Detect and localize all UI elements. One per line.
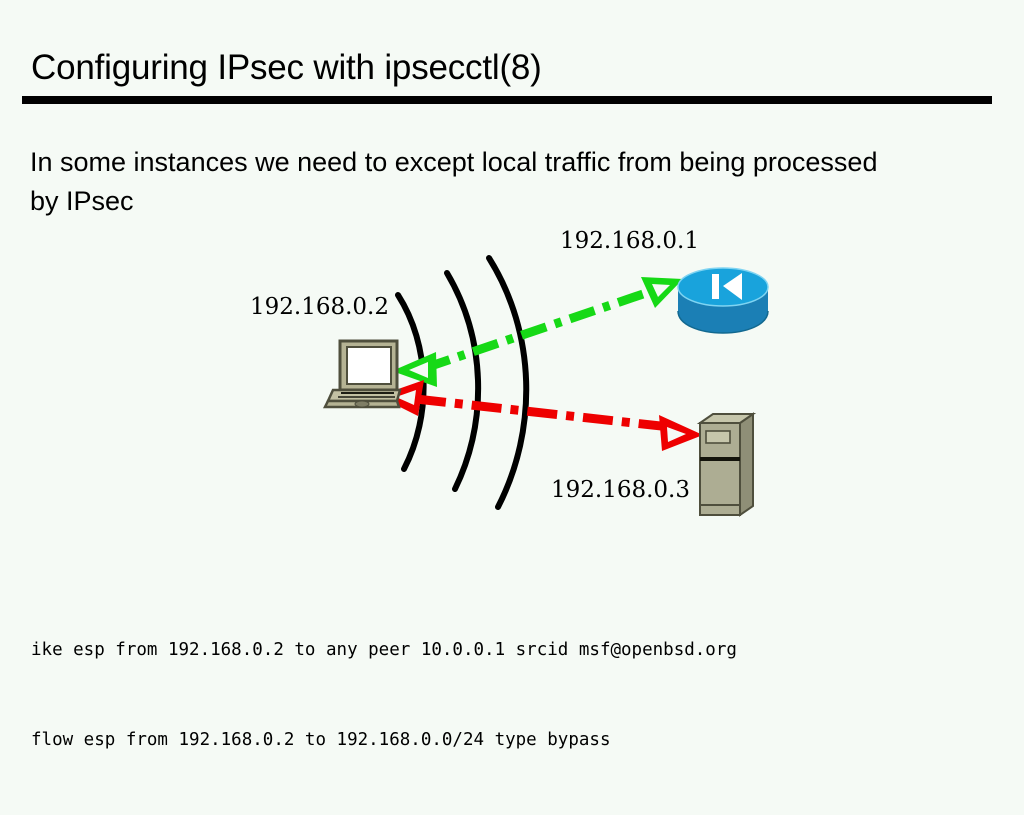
body-paragraph: In some instances we need to except loca… <box>30 143 910 221</box>
network-diagram: 192.168.0.1 192.168.0.2 192.168.0.3 <box>0 215 1024 545</box>
link-laptop-server <box>378 380 703 451</box>
server-tower-icon <box>700 414 753 515</box>
page-title: Configuring IPsec with ipsecctl(8) <box>31 47 542 89</box>
slide-canvas: Configuring IPsec with ipsecctl(8) In so… <box>0 0 1024 768</box>
code-line-ike: ike esp from 192.168.0.2 to any peer 10.… <box>31 635 737 665</box>
title-divider <box>22 96 992 104</box>
server-ip-label: 192.168.0.3 <box>551 477 690 503</box>
router-icon <box>678 268 768 333</box>
laptop-ip-label: 192.168.0.2 <box>250 294 389 320</box>
link-laptop-router <box>392 277 683 387</box>
code-line-flow: flow esp from 192.168.0.2 to 192.168.0.0… <box>31 725 737 755</box>
config-code-block: ike esp from 192.168.0.2 to any peer 10.… <box>31 575 737 815</box>
router-ip-label: 192.168.0.1 <box>560 228 699 254</box>
laptop-icon <box>325 341 400 407</box>
